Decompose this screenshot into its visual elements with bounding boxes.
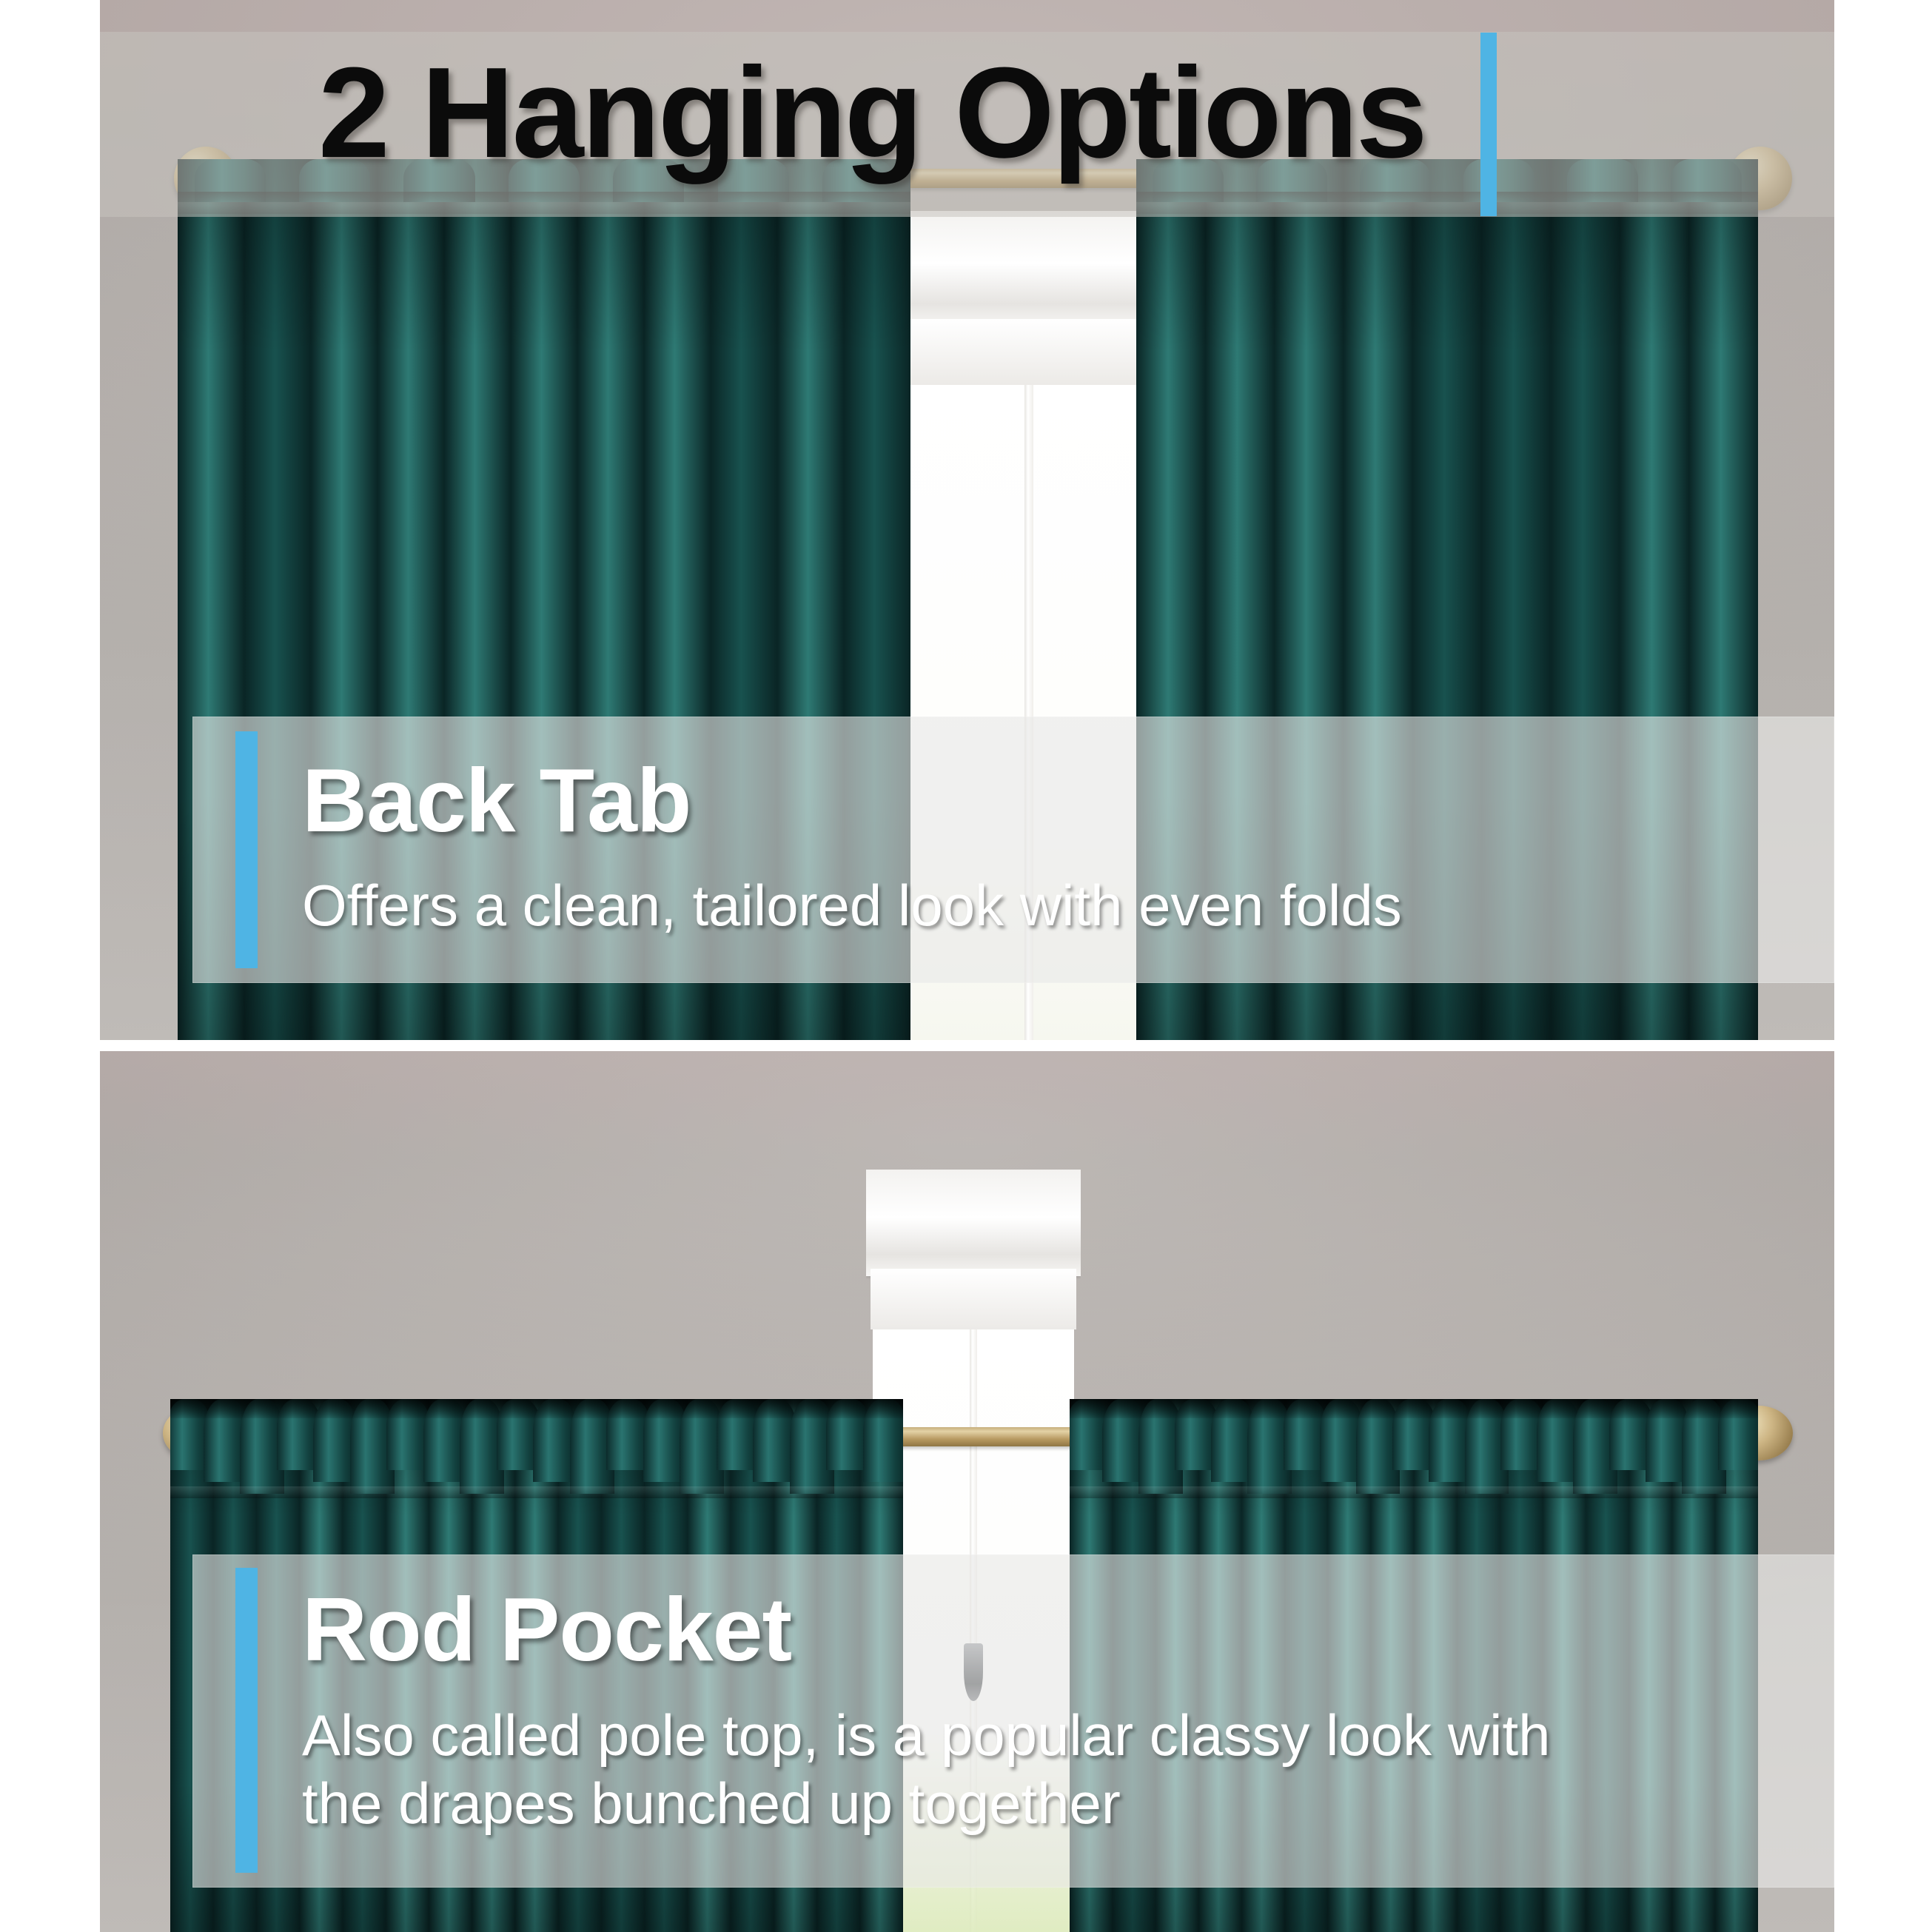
window-casing-trim [887,319,1171,386]
rod-pocket-description-line2: the drapes bunched up together [302,1771,1121,1836]
rod-pocket-description-line1: Also called pole top, is a popular class… [302,1703,1551,1768]
rod-pocket-title: Rod Pocket [302,1583,791,1676]
infographic-canvas: 2 Hanging Options Back Tab Offers a clea… [0,0,1932,1932]
back-tab-title: Back Tab [302,754,691,847]
photo-divider [0,1040,1932,1051]
page-margin-left [0,0,100,1932]
page-margin-right [1834,0,1932,1932]
page-title: 2 Hanging Options [318,46,1473,179]
window-casing-trim-2 [871,1269,1076,1329]
rod-pocket-accent-bar [235,1568,258,1873]
back-tab-description: Offers a clean, tailored look with even … [302,873,1402,937]
window-header-trim-2 [866,1170,1081,1276]
window-header-trim [881,211,1177,327]
back-tab-accent-bar [235,731,258,968]
header-accent-bar [1480,33,1497,216]
